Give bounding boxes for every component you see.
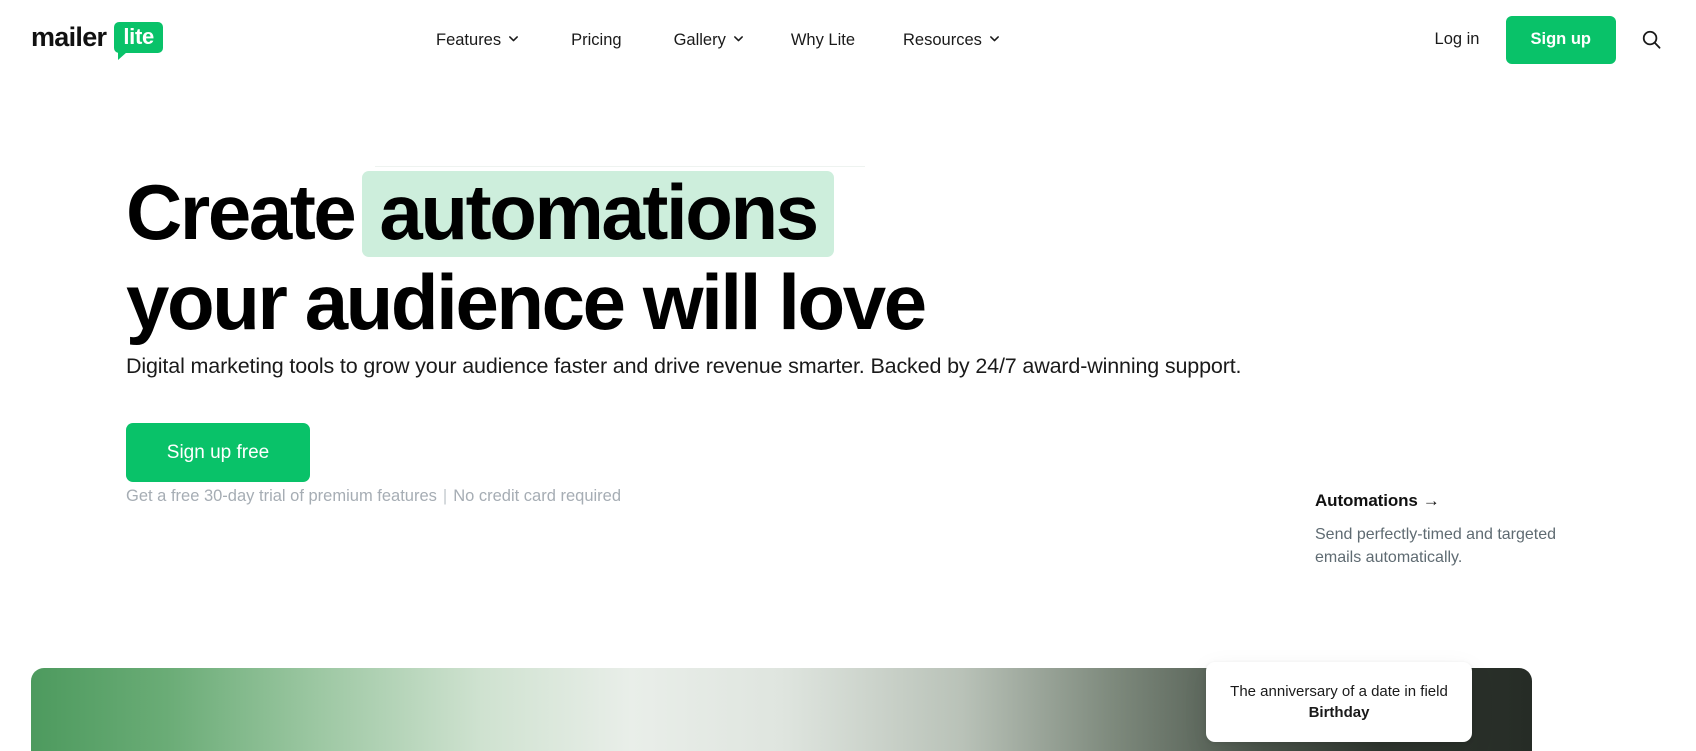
automation-tooltip-card: The anniversary of a date in field Birth…	[1206, 662, 1472, 742]
fineprint-nocard-text: No credit card required	[453, 487, 621, 505]
page-title: Createautomations your audience will lov…	[126, 167, 1126, 347]
arrow-right-icon: →	[1423, 491, 1440, 510]
login-link[interactable]: Log in	[1435, 30, 1480, 49]
headline-line-2: your audience will love	[126, 257, 1126, 347]
nav-item-pricing-label: Pricing	[571, 30, 621, 50]
fineprint-separator: |	[443, 487, 447, 505]
top-navigation-bar: mailer lite Features Pricing Gallery	[0, 0, 1696, 79]
feature-title-link[interactable]: Automations→	[1315, 489, 1585, 513]
nav-item-gallery[interactable]: Gallery	[674, 30, 744, 50]
hero-subheading: Digital marketing tools to grow your aud…	[126, 351, 1241, 381]
mailerlite-logo[interactable]: mailer lite	[31, 22, 163, 56]
headline-prefix: Create	[126, 168, 354, 256]
nav-item-features[interactable]: Features	[436, 30, 519, 50]
chevron-down-icon	[989, 33, 1000, 44]
chevron-down-icon	[733, 33, 744, 44]
nav-item-resources-label: Resources	[903, 30, 982, 50]
hero-fineprint: Get a free 30-day trial of premium featu…	[126, 485, 621, 507]
nav-item-why-lite-label: Why Lite	[791, 30, 855, 50]
fineprint-trial-text: Get a free 30-day trial of premium featu…	[126, 487, 437, 505]
nav-item-resources[interactable]: Resources	[903, 30, 1000, 50]
headline-highlight: automations	[362, 171, 833, 257]
nav-item-why-lite[interactable]: Why Lite	[791, 30, 855, 50]
tooltip-line-1: The anniversary of a date in	[1230, 683, 1416, 700]
nav-item-gallery-label: Gallery	[674, 30, 726, 50]
nav-item-features-label: Features	[436, 30, 501, 50]
headline-line-1: Createautomations	[126, 167, 1126, 257]
signup-button[interactable]: Sign up	[1506, 16, 1617, 64]
feature-title-text: Automations	[1315, 491, 1418, 510]
logo-wordmark: mailer	[31, 22, 106, 52]
primary-nav-links: Features Pricing Gallery Why Lite Resour…	[436, 0, 1000, 79]
mailerlite-landing-page: mailer lite Features Pricing Gallery	[0, 0, 1696, 751]
nav-item-pricing[interactable]: Pricing	[571, 30, 621, 50]
nav-actions: Log in Sign up	[1435, 0, 1696, 79]
logo-badge-label: lite	[123, 25, 154, 49]
feature-callout-automations: Automations→ Send perfectly-timed and ta…	[1315, 489, 1585, 569]
search-icon[interactable]	[1638, 27, 1664, 53]
tooltip-field-name: Birthday	[1309, 704, 1370, 721]
logo-lite-badge: lite	[114, 22, 163, 53]
tooltip-content: The anniversary of a date in field Birth…	[1206, 681, 1472, 723]
signup-free-button[interactable]: Sign up free	[126, 423, 310, 482]
tooltip-line-2-prefix: field	[1420, 683, 1448, 700]
feature-description: Send perfectly-timed and targeted emails…	[1315, 523, 1585, 569]
chevron-down-icon	[508, 33, 519, 44]
